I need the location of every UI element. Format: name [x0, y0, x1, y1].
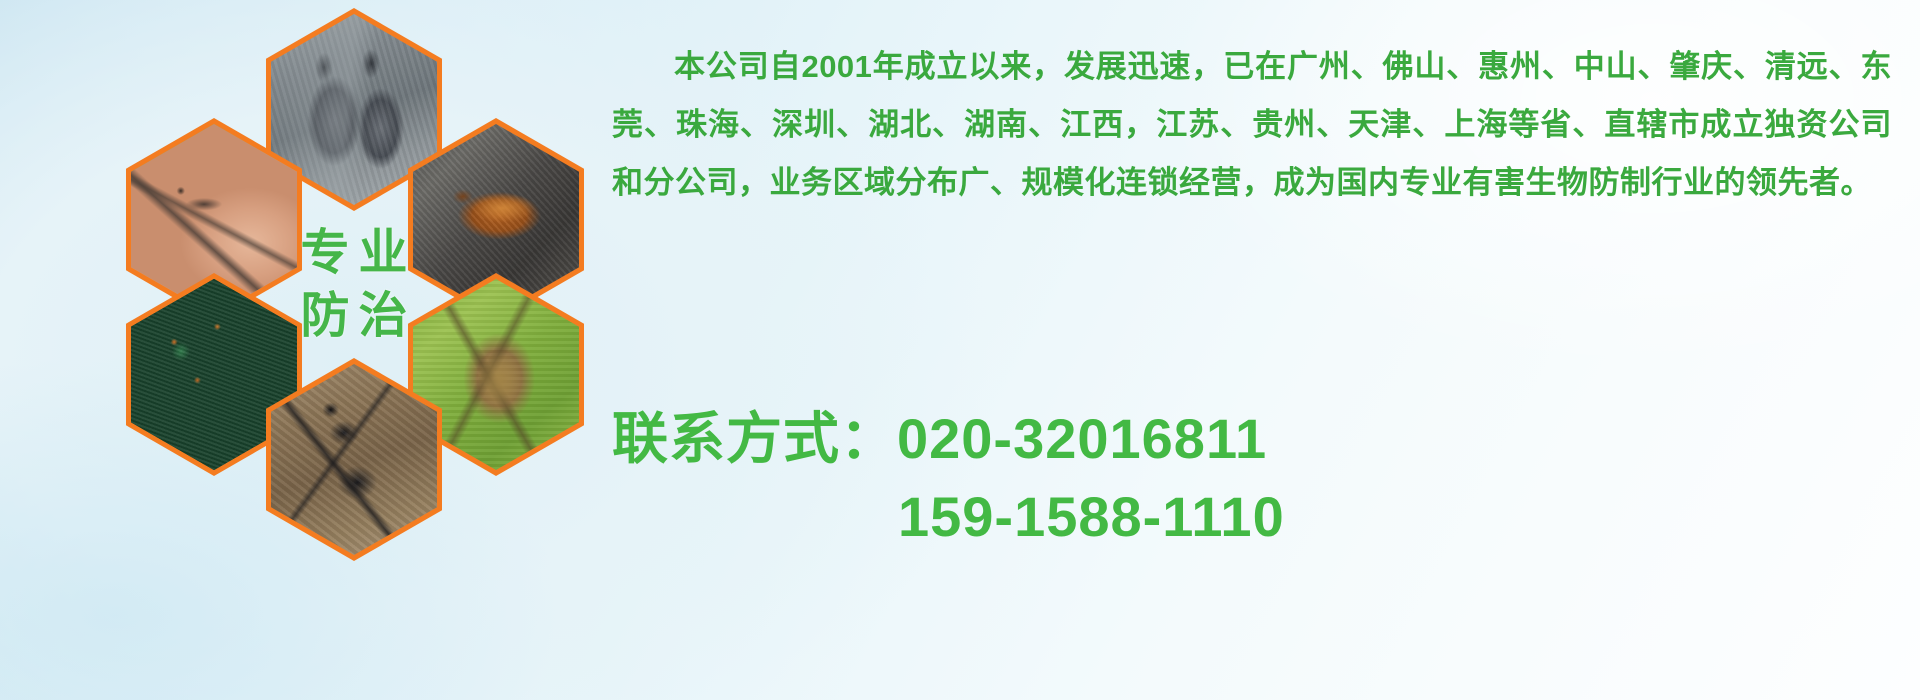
contact-primary-line: 联系方式：020-32016811 — [612, 400, 1892, 478]
badge-line-1: 专业 — [291, 229, 416, 278]
contact-secondary-line: 159-1588-1110 — [612, 478, 1892, 556]
hex-photo-ant-inner — [271, 364, 437, 555]
contact-phone-secondary[interactable]: 159-1588-1110 — [898, 485, 1285, 548]
company-intro: 本公司自2001年成立以来，发展迅速，已在广州、佛山、惠州、中山、肇庆、清远、东… — [612, 38, 1892, 212]
ant-photo — [271, 364, 437, 555]
contact-phone-primary[interactable]: 020-32016811 — [897, 407, 1267, 470]
contact-label: 联系方式： — [612, 407, 897, 470]
pest-control-banner: 专业 防治 本公司自2001年成立以来，发展迅速，已在广州、佛山、惠州、中山、肇… — [0, 0, 1920, 700]
badge-line-2: 防治 — [291, 292, 416, 341]
hexagon-photo-cluster: 专业 防治 — [90, 8, 590, 553]
contact-block: 联系方式：020-32016811 159-1588-1110 — [612, 400, 1892, 556]
company-intro-paragraph: 本公司自2001年成立以来，发展迅速，已在广州、佛山、惠州、中山、肇庆、清远、东… — [612, 38, 1892, 212]
